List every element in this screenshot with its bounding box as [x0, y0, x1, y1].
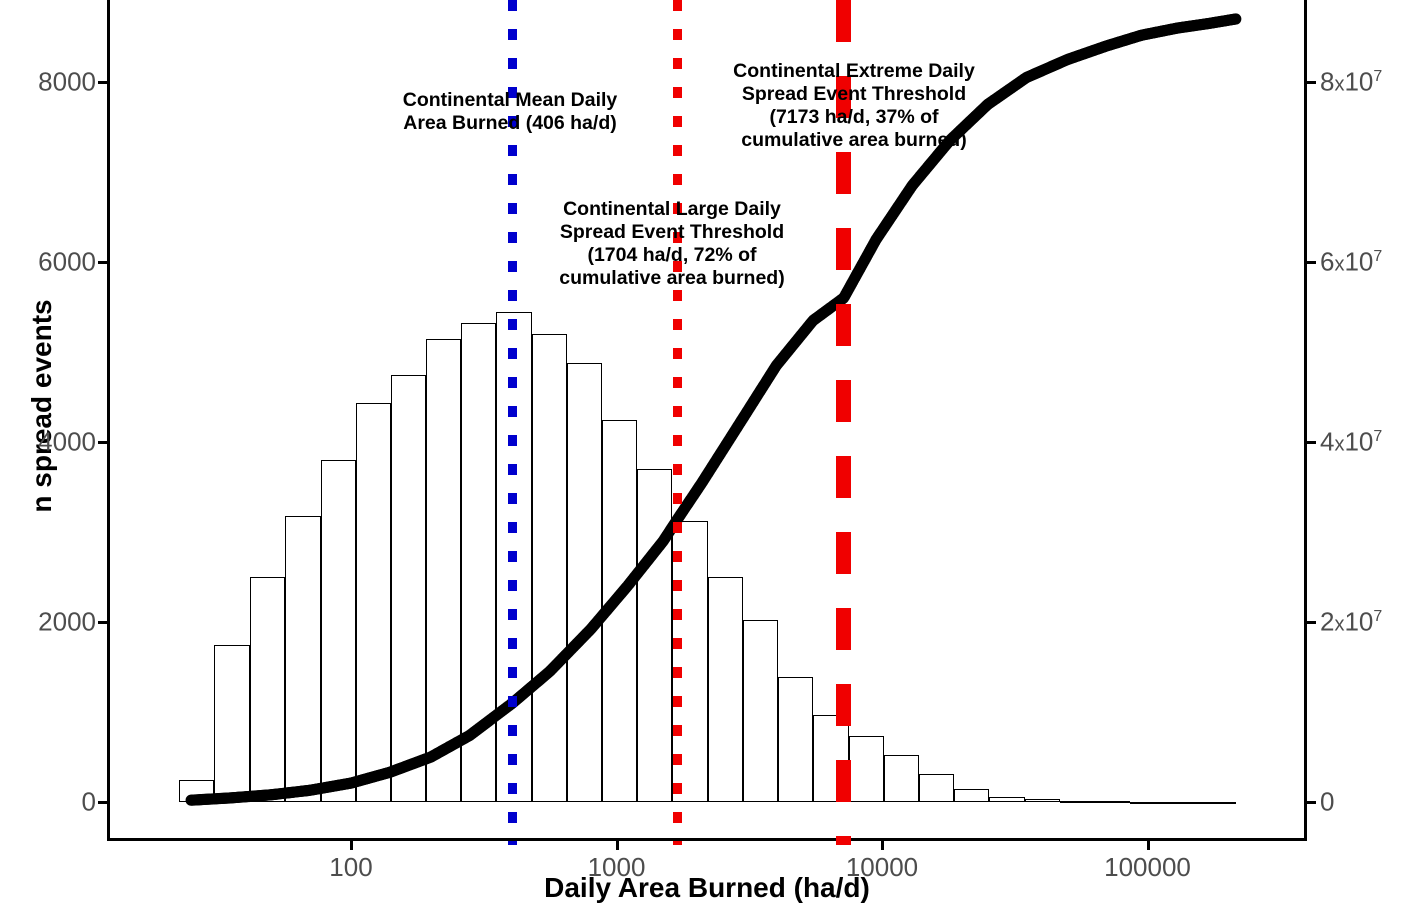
y-axis-left-tick [98, 81, 107, 84]
y-axis-left-tick-label: 6000 [38, 247, 96, 278]
y-axis-left-tick-label: 8000 [38, 67, 96, 98]
y-axis-right-tick [1307, 441, 1316, 444]
x-axis-tick [616, 841, 619, 850]
chart-figure: n spread events Cumulative Area Burned (… [0, 0, 1418, 917]
y-axis-left-tick [98, 261, 107, 264]
reference-line-large-threshold [673, 0, 682, 845]
annotation-continental-mean: Continental Mean Daily Area Burned (406 … [398, 89, 622, 135]
annotation-large-threshold: Continental Large Daily Spread Event Thr… [556, 198, 788, 290]
x-axis-tick [1147, 841, 1150, 850]
x-axis-tick [350, 841, 353, 850]
y-axis-right-tick [1307, 801, 1316, 804]
y-axis-right-tick-label: 8x107 [1320, 67, 1382, 98]
y-axis-left-tick [98, 801, 107, 804]
y-axis-left-title: n spread events [26, 256, 58, 556]
y-axis-right-tick-label: 6x107 [1320, 247, 1382, 278]
y-axis-left-tick-label: 0 [82, 787, 96, 818]
y-axis-right-tick [1307, 621, 1316, 624]
annotation-extreme-threshold: Continental Extreme Daily Spread Event T… [730, 60, 978, 152]
y-axis-left-tick-label: 2000 [38, 607, 96, 638]
x-axis-tick-label: 1000 [588, 852, 646, 883]
y-axis-right-tick-label: 4x107 [1320, 427, 1382, 458]
x-axis-tick-label: 10000 [846, 852, 918, 883]
plot-panel [107, 0, 1307, 840]
x-axis-tick-label: 100000 [1104, 852, 1191, 883]
y-axis-right-tick-label: 2x107 [1320, 607, 1382, 638]
cumulative-point [1230, 13, 1241, 24]
x-axis-tick [881, 841, 884, 850]
y-axis-left-tick [98, 621, 107, 624]
cumulative-curve [107, 0, 1307, 840]
y-axis-right-tick-label: 0 [1320, 787, 1334, 818]
y-axis-left-tick-label: 4000 [38, 427, 96, 458]
y-axis-left-tick [98, 441, 107, 444]
x-axis-tick-label: 100 [329, 852, 372, 883]
y-axis-right-tick [1307, 261, 1316, 264]
y-axis-right-tick [1307, 81, 1316, 84]
